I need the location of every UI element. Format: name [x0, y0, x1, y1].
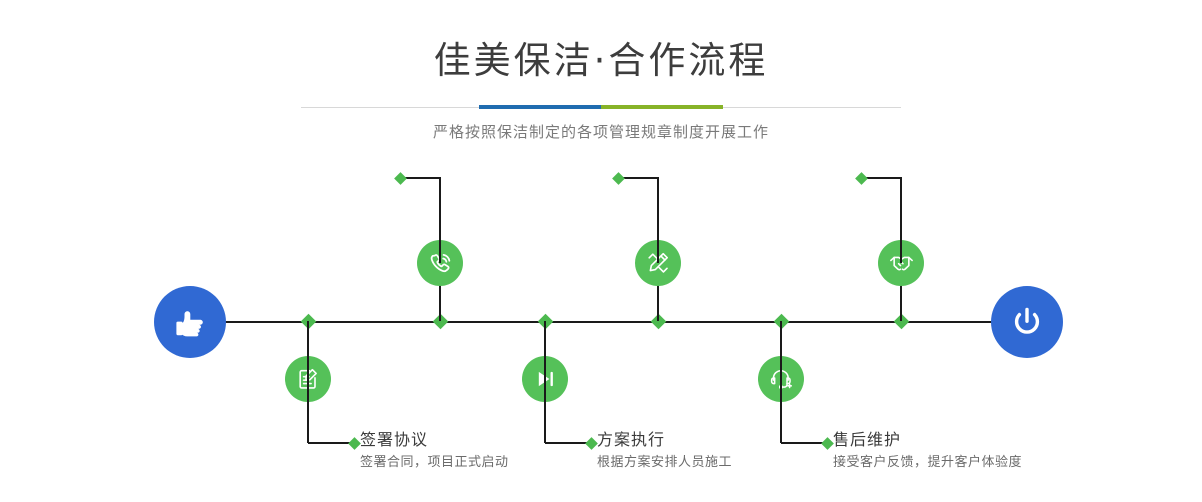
process-timeline: 电话咨询 阐明基本情况和需求 — [0, 0, 1202, 502]
node-leader-line — [619, 177, 659, 179]
step-desc: 接受客户反馈，提升客户体验度 — [833, 453, 1022, 473]
node-leader-line — [545, 442, 591, 444]
timeline-start-endpoint — [154, 286, 226, 358]
step-label-after-sales: 售后维护 接受客户反馈，提升客户体验度 — [833, 430, 1022, 473]
node-stem-lower — [307, 321, 309, 443]
step-desc: 签署合同，项目正式启动 — [360, 453, 509, 473]
node-leader-line — [308, 442, 354, 444]
cooperation-process-infographic: 佳美保洁·合作流程 严格按照保洁制定的各项管理规章制度开展工作 — [0, 0, 1202, 502]
node-leader-tip — [612, 172, 625, 185]
step-label-plan-execute: 方案执行 根据方案安排人员施工 — [597, 430, 732, 473]
node-stem-lower — [780, 321, 782, 443]
node-stem-upper — [657, 178, 659, 263]
step-label-sign-agreement: 签署协议 签署合同，项目正式启动 — [360, 430, 509, 473]
node-leader-tip — [585, 437, 598, 450]
node-leader-tip — [821, 437, 834, 450]
timeline-end-endpoint — [991, 286, 1063, 358]
node-leader-line — [862, 177, 902, 179]
node-leader-line — [401, 177, 441, 179]
node-leader-tip — [348, 437, 361, 450]
step-title: 方案执行 — [597, 430, 732, 450]
step-title: 签署协议 — [360, 430, 509, 450]
node-stem-upper — [439, 178, 441, 263]
step-title: 售后维护 — [833, 430, 1022, 450]
node-leader-line — [781, 442, 827, 444]
power-icon — [1007, 302, 1047, 342]
step-desc: 根据方案安排人员施工 — [597, 453, 732, 473]
node-stem-upper — [900, 178, 902, 263]
pointing-hand-icon — [170, 302, 210, 342]
node-leader-tip — [855, 172, 868, 185]
node-stem-lower — [544, 321, 546, 443]
node-leader-tip — [394, 172, 407, 185]
